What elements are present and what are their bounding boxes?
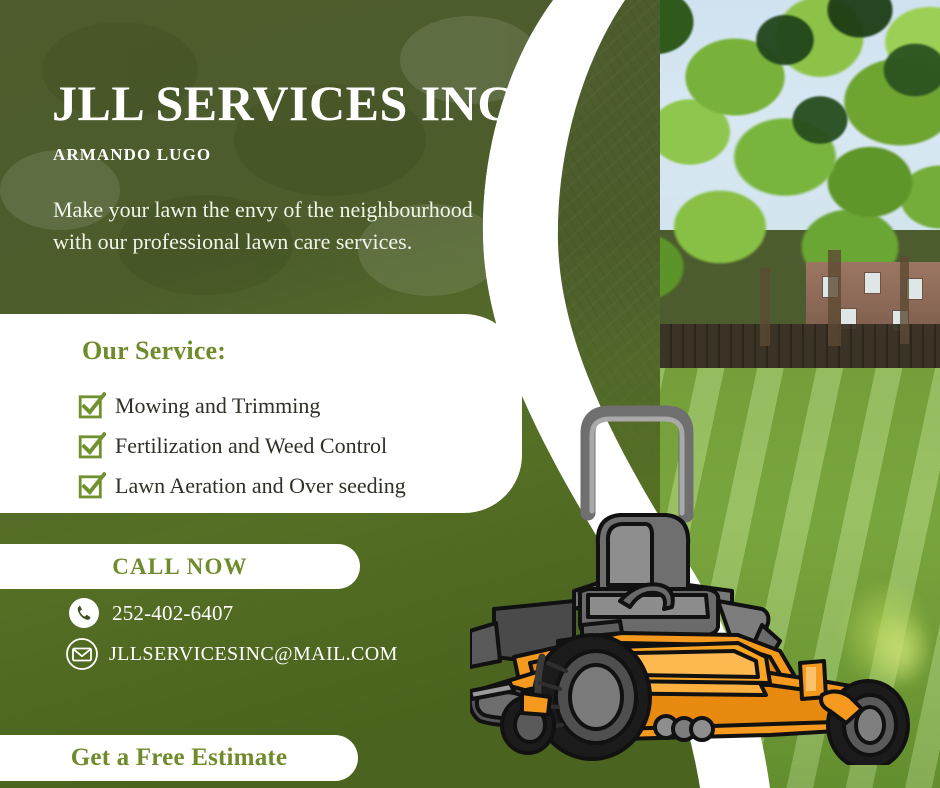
email-address: JLLSERVICESINC@MAIL.COM [109,643,398,666]
page-title: JLL SERVICES INC [52,77,514,130]
service-label: Fertilization and Weed Control [115,435,387,457]
services-heading: Our Service: [82,336,226,366]
service-label: Mowing and Trimming [115,395,320,417]
envelope-icon [65,637,99,671]
lawn-mower-illustration [470,395,940,765]
service-label: Lawn Aeration and Over seeding [115,475,406,497]
checkbox-checked-icon [78,392,106,420]
call-now-button[interactable]: CALL NOW [0,544,360,589]
phone-icon [68,597,100,629]
get-estimate-label: Get a Free Estimate [71,744,287,772]
phone-contact-row[interactable]: 252-402-6407 [68,597,233,629]
email-contact-row[interactable]: JLLSERVICESINC@MAIL.COM [65,637,398,671]
owner-name: ARMANDO LUGO [53,145,211,165]
service-item: Fertilization and Weed Control [78,426,406,466]
lawn-care-flyer: JLL SERVICES INC ARMANDO LUGO Make your … [0,0,940,788]
tagline-text: Make your lawn the envy of the neighbour… [53,194,483,259]
checkbox-checked-icon [78,472,106,500]
service-item: Lawn Aeration and Over seeding [78,466,406,506]
service-item: Mowing and Trimming [78,386,406,426]
services-list: Mowing and Trimming Fertilization and We… [78,386,406,506]
phone-number: 252-402-6407 [112,601,233,626]
get-estimate-button[interactable]: Get a Free Estimate [0,735,358,781]
services-card: Our Service: Mowing and Trimming [0,314,522,513]
call-now-label: CALL NOW [112,554,247,580]
checkbox-checked-icon [78,432,106,460]
